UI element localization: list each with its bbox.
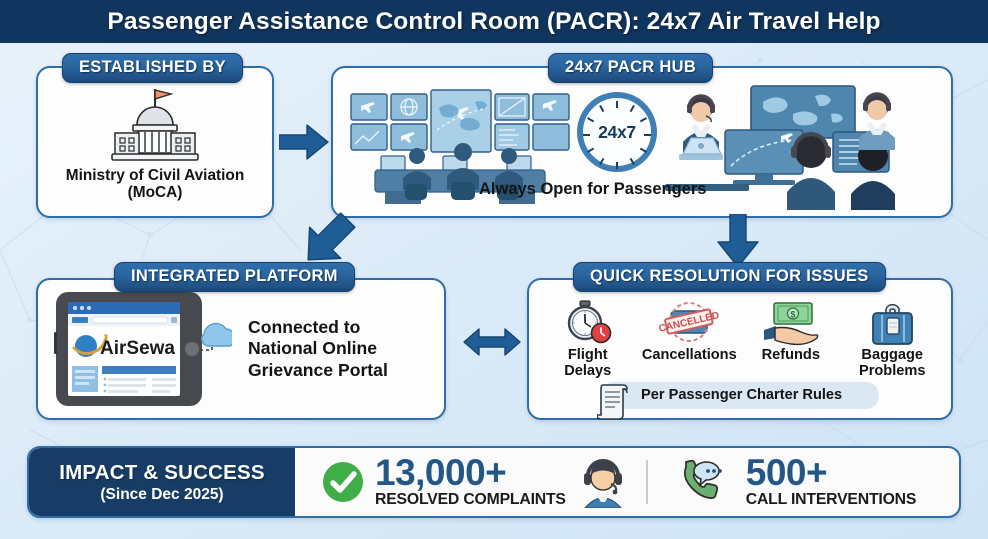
moca-line2: (MoCA)	[66, 184, 244, 201]
stat-divider	[646, 460, 648, 504]
stat-number: 500+	[746, 455, 827, 490]
badge-quick-resolution: QUICK RESOLUTION FOR ISSUES	[573, 262, 886, 292]
stat-number: 13,000+	[375, 455, 506, 490]
page-header: Passenger Assistance Control Room (PACR)…	[0, 0, 988, 43]
badge-pacr-hub: 24x7 PACR HUB	[548, 53, 713, 83]
impact-label-block: IMPACT & SUCCESS (Since Dec 2025)	[29, 448, 295, 516]
clock-label: 24x7	[598, 122, 636, 143]
page-title: Passenger Assistance Control Room (PACR)…	[107, 8, 880, 36]
issue-label-line1: Cancellations	[642, 348, 737, 364]
issue-label-line2: Problems	[859, 364, 926, 380]
card-established-by: Ministry of Civil Aviation (MoCA)	[36, 66, 274, 218]
platform-line2: National Online	[248, 338, 388, 359]
stopwatch-icon	[562, 300, 614, 346]
arrow-platform-quick-bidirectional	[463, 325, 521, 359]
platform-line3: Grievance Portal	[248, 360, 388, 381]
clock-24x7-icon: 24x7	[577, 92, 657, 172]
svg-text:$: $	[790, 310, 795, 320]
badge-integrated-platform: INTEGRATED PLATFORM	[114, 262, 355, 292]
card-pacr-hub: 24x7	[331, 66, 953, 218]
headset-agent-icon	[580, 456, 626, 508]
phone-chat-icon	[680, 459, 736, 505]
stat-call-interventions: 500+ CALL INTERVENTIONS	[680, 455, 916, 508]
hub-caption: Always Open for Passengers	[479, 180, 706, 199]
government-building-icon	[107, 85, 203, 163]
card-quick-resolution: Flight Delays CANCELLED	[527, 278, 953, 420]
stat-label: CALL INTERVENTIONS	[746, 491, 916, 509]
issue-label-line1: Refunds	[762, 348, 820, 364]
impact-success-bar: IMPACT & SUCCESS (Since Dec 2025) 13,000…	[27, 446, 961, 518]
tablet-icon: AirSewa	[54, 290, 232, 408]
platform-line1: Connected to	[248, 317, 388, 338]
issue-label-line2: Delays	[564, 364, 611, 380]
stat-label: RESOLVED COMPLAINTS	[375, 491, 566, 509]
charter-rules-label: Per Passenger Charter Rules	[641, 387, 842, 403]
card-integrated-platform: AirSewa	[36, 278, 446, 420]
established-by-label: Ministry of Civil Aviation (MoCA)	[66, 167, 244, 202]
cancelled-stamp-icon: CANCELLED	[659, 300, 719, 346]
platform-description: Connected to National Online Grievance P…	[248, 317, 388, 381]
stat-resolved-complaints: 13,000+ RESOLVED COMPLAINTS	[321, 455, 626, 508]
issue-cancellations: CANCELLED Cancellations	[643, 300, 735, 364]
svg-text:AirSewa: AirSewa	[100, 338, 175, 359]
green-check-icon	[321, 460, 365, 504]
arrow-hub-to-quick	[716, 214, 760, 268]
impact-since: (Since Dec 2025)	[100, 486, 223, 504]
issue-flight-delays: Flight Delays	[542, 300, 634, 380]
agents-workstation-icon	[665, 80, 951, 210]
infographic-page: Passenger Assistance Control Room (PACR)…	[0, 0, 988, 539]
impact-title: IMPACT & SUCCESS	[59, 461, 265, 485]
issue-baggage-problems: Baggage Problems	[846, 300, 938, 380]
suitcase-icon	[866, 300, 918, 346]
charter-rules-pill: Per Passenger Charter Rules	[601, 382, 879, 409]
scroll-document-icon	[597, 382, 631, 422]
badge-established-by: ESTABLISHED BY	[62, 53, 243, 83]
issue-label-line1: Flight	[564, 348, 611, 364]
arrow-established-to-hub	[279, 122, 329, 162]
money-in-hand-icon: $	[762, 300, 820, 346]
issue-label-line1: Baggage	[859, 348, 926, 364]
cloud-icon	[202, 323, 232, 346]
issue-refunds: $ Refunds	[745, 300, 837, 364]
moca-line1: Ministry of Civil Aviation	[66, 167, 244, 184]
